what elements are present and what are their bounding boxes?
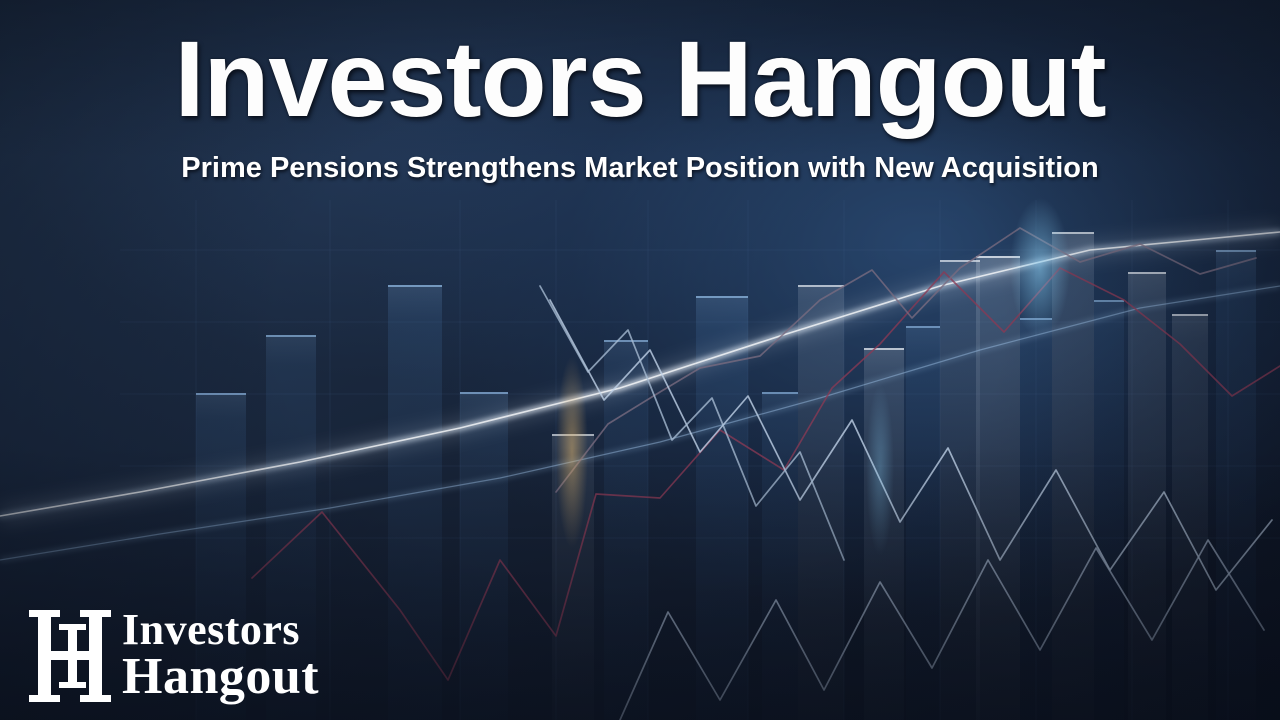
amber-glow-accent <box>556 356 588 548</box>
chart-bars <box>196 232 1256 720</box>
logo-line-investors: Investors <box>122 610 319 651</box>
cyan-glow-accent-2 <box>866 384 894 556</box>
logo-wordmark: Investors Hangout <box>122 610 319 701</box>
cyan-glow-accent <box>1010 198 1070 338</box>
promo-banner: Investors Hangout Prime Pensions Strengt… <box>0 0 1280 720</box>
page-title: Investors Hangout <box>0 22 1280 136</box>
brand-logo[interactable]: Investors Hangout <box>28 604 319 708</box>
ih-monogram-icon <box>28 604 112 708</box>
headline-block: Investors Hangout Prime Pensions Strengt… <box>0 0 1280 185</box>
logo-line-hangout: Hangout <box>122 653 319 701</box>
article-subtitle: Prime Pensions Strengthens Market Positi… <box>0 152 1280 185</box>
